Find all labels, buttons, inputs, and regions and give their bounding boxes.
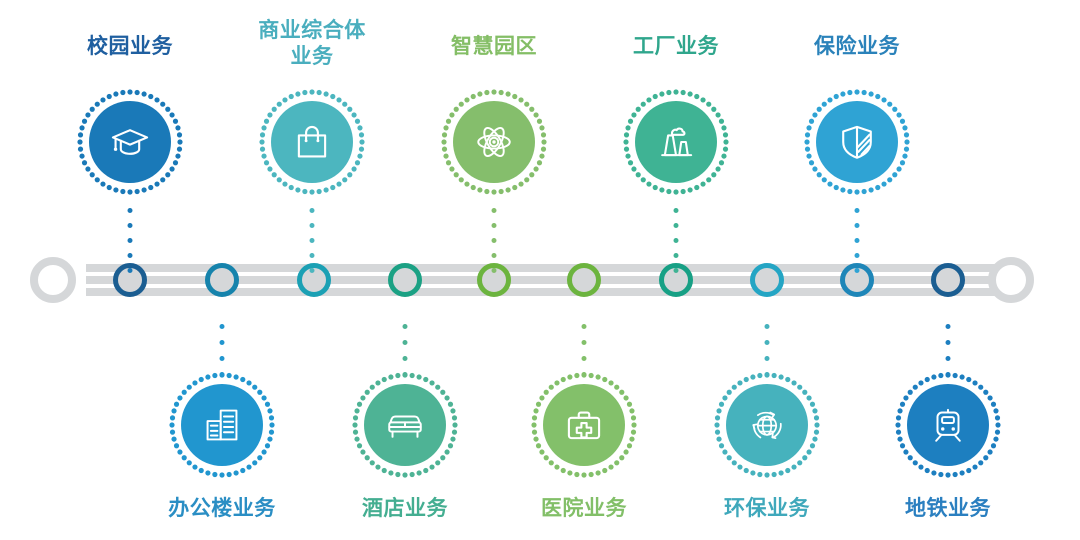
badge-shield[interactable]: [803, 88, 911, 196]
badge-bed[interactable]: [351, 371, 459, 479]
rail-end-cap-right: [988, 257, 1034, 303]
badge-disc: [453, 101, 535, 183]
badge-disc: [364, 384, 446, 466]
item-label-medical-kit: 医院业务: [541, 496, 627, 522]
item-label-graduation-cap: 校园业务: [87, 34, 173, 60]
item-label-atom: 智慧园区: [451, 34, 537, 60]
badge-shopping-bag[interactable]: [258, 88, 366, 196]
item-label-shield: 保险业务: [814, 34, 900, 60]
graduation-cap-icon: [109, 121, 151, 163]
badge-disc: [907, 384, 989, 466]
metro-train-icon: [927, 404, 969, 446]
badge-disc: [271, 101, 353, 183]
badge-metro-train[interactable]: [894, 371, 1002, 479]
badge-disc: [726, 384, 808, 466]
badge-medical-kit[interactable]: [530, 371, 638, 479]
infographic-canvas: 校园业务商业综合体 业务智慧园区工厂业务保险业务办公楼业务酒店业务医院业务环保业…: [0, 0, 1080, 540]
bed-icon: [384, 404, 426, 446]
shield-icon: [836, 121, 878, 163]
badge-graduation-cap[interactable]: [76, 88, 184, 196]
timeline-node-10[interactable]: [931, 263, 965, 297]
shopping-bag-icon: [291, 121, 333, 163]
badge-disc: [635, 101, 717, 183]
medical-kit-icon: [563, 404, 605, 446]
connector-top-3: [492, 208, 497, 283]
badge-disc: [543, 384, 625, 466]
item-label-shopping-bag: 商业综合体 业务: [258, 18, 366, 71]
item-label-bed: 酒店业务: [362, 496, 448, 522]
badge-disc: [816, 101, 898, 183]
item-label-recycle-globe: 环保业务: [724, 496, 810, 522]
item-label-office-building: 办公楼业务: [168, 496, 276, 522]
timeline-node-4[interactable]: [388, 263, 422, 297]
item-label-metro-train: 地铁业务: [905, 496, 991, 522]
connector-top-4: [674, 208, 679, 283]
recycle-globe-icon: [746, 404, 788, 446]
timeline-rail: [30, 264, 1050, 296]
badge-disc: [181, 384, 263, 466]
item-label-factory: 工厂业务: [633, 34, 719, 60]
badge-atom[interactable]: [440, 88, 548, 196]
rail-end-cap-left: [30, 257, 76, 303]
badge-recycle-globe[interactable]: [713, 371, 821, 479]
timeline-node-8[interactable]: [750, 263, 784, 297]
connector-top-2: [310, 208, 315, 283]
connector-top-1: [128, 208, 133, 283]
timeline-node-2[interactable]: [205, 263, 239, 297]
timeline-node-6[interactable]: [567, 263, 601, 297]
office-building-icon: [201, 404, 243, 446]
factory-icon: [655, 121, 697, 163]
connector-top-5: [855, 208, 860, 283]
atom-icon: [473, 121, 515, 163]
badge-factory[interactable]: [622, 88, 730, 196]
badge-disc: [89, 101, 171, 183]
badge-office-building[interactable]: [168, 371, 276, 479]
